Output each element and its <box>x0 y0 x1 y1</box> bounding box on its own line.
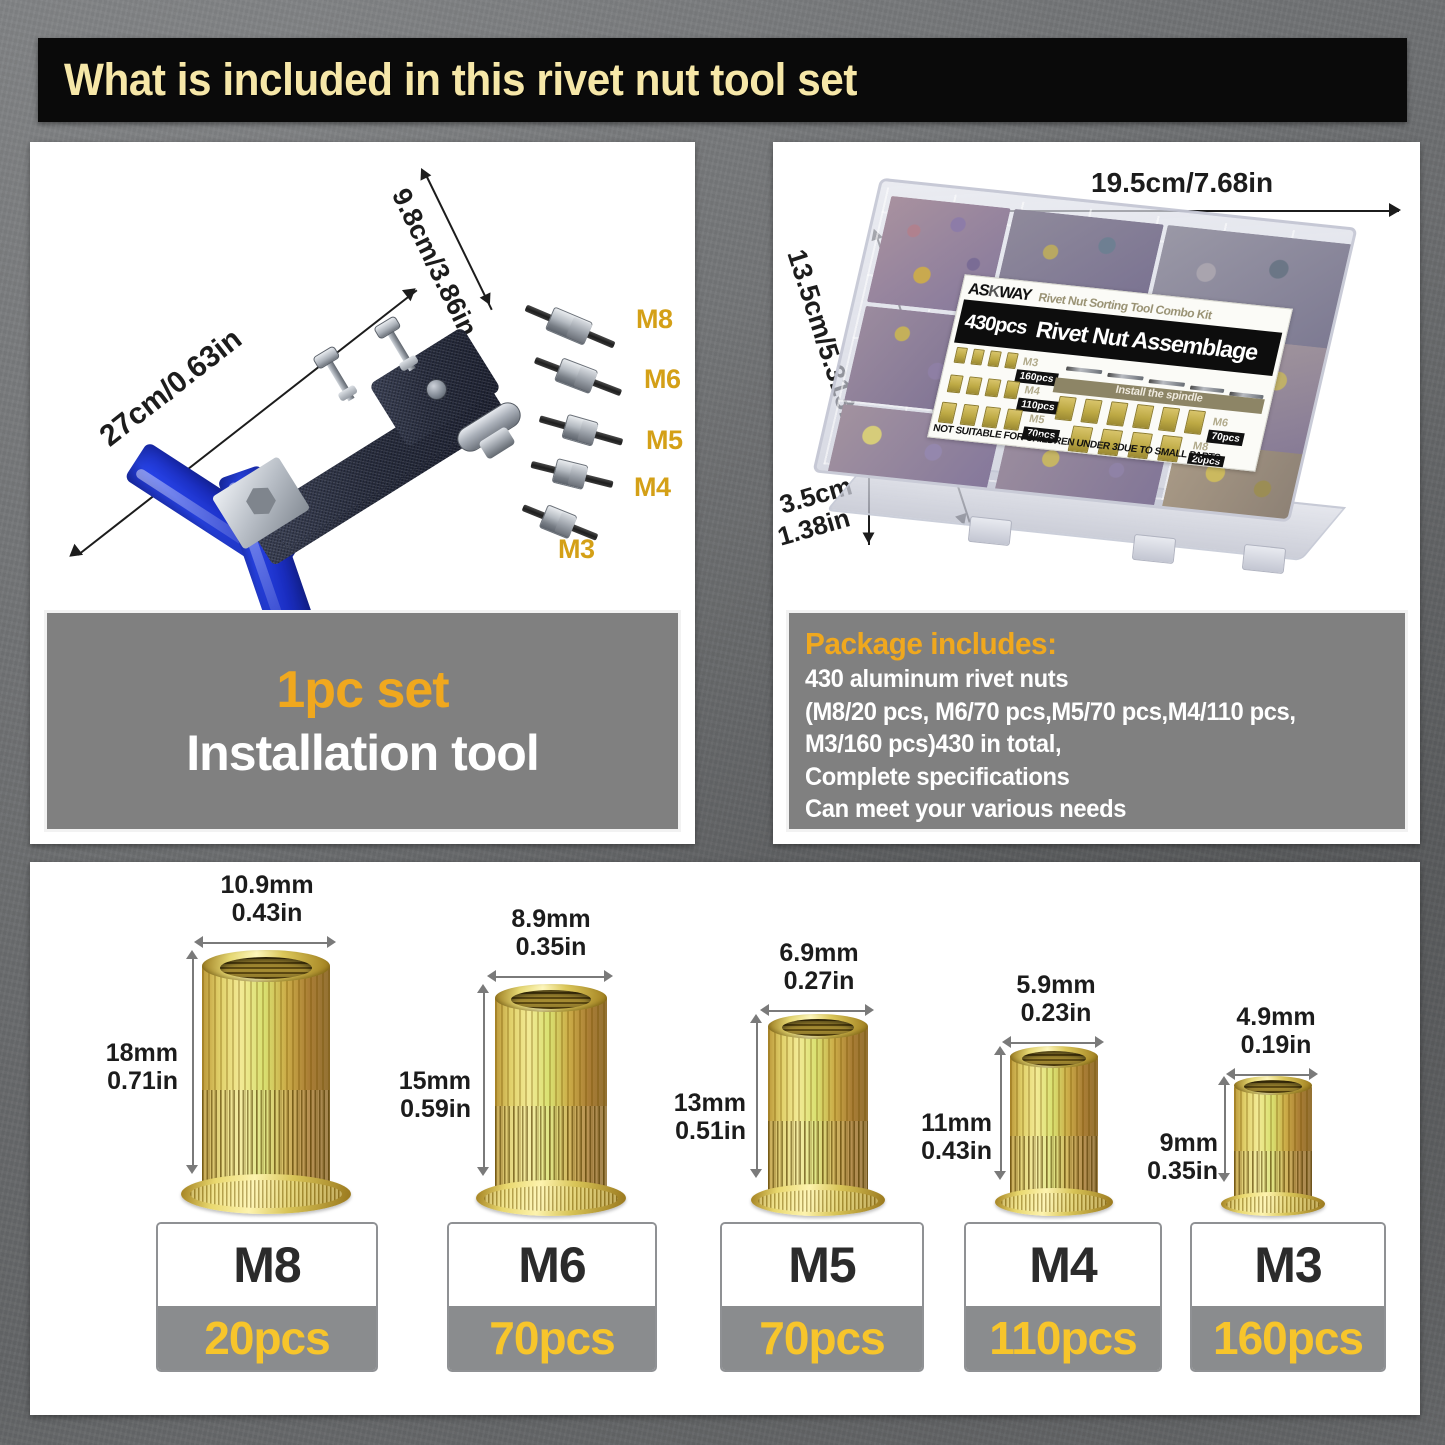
label-nut-m6-2 <box>1080 399 1102 424</box>
m4-dia-rule <box>1010 1042 1098 1044</box>
tool-caption-line1: 1pc set <box>276 660 448 720</box>
label-nut-m5-3 <box>981 406 1001 428</box>
package-title: Package includes: <box>805 626 1381 662</box>
label-pcs-m6: 70pcs <box>1206 430 1245 447</box>
m3-len-arrow-t <box>1218 1076 1230 1085</box>
case-illustration: 19.5cm/7.68in 13.5cm/5.313in 3.5cm 1.38i… <box>773 142 1420 610</box>
m8-len-in: 0.71in <box>68 1068 178 1095</box>
m3-len-in: 0.35in <box>1108 1158 1218 1185</box>
mandrel-label-m3: M3 <box>558 534 595 565</box>
size-comparison-panel: 10.9mm 0.43in 18mm 0.71in M8 20pcs 8.9mm… <box>30 862 1420 1415</box>
m5-len-in: 0.51in <box>634 1118 746 1145</box>
tool-caption-box: 1pc set Installation tool <box>44 610 681 832</box>
spec-pcs-m8: 20pcs <box>204 1311 329 1365</box>
m6-dia-arrow-l <box>487 970 496 982</box>
m5-dia-rule <box>768 1010 868 1012</box>
m4-len-rule <box>1000 1054 1002 1174</box>
spec-label-m5: M5 70pcs <box>720 1222 924 1372</box>
label-nut-m5-1 <box>938 402 958 424</box>
m6-dia-arrow-r <box>604 970 613 982</box>
spec-pcs-m6: 70pcs <box>489 1311 614 1365</box>
spec-size-m4: M4 <box>1029 1236 1096 1294</box>
label-nut-m6-3 <box>1106 401 1128 426</box>
label-size-m6: M6 <box>1211 416 1229 429</box>
label-nut-m5-4 <box>1003 409 1023 431</box>
label-size-m3: M3 <box>1022 356 1040 369</box>
m8-len-arrow-b <box>186 1165 198 1174</box>
m6-len-mm: 15mm <box>359 1068 471 1095</box>
package-line-4: Complete specifications <box>805 761 1375 794</box>
spec-size-m3: M3 <box>1254 1236 1321 1294</box>
label-nut-m3-2 <box>970 349 985 366</box>
mandrel-label-m6: M6 <box>644 364 681 395</box>
mandrel-label-m8: M8 <box>636 304 673 335</box>
label-total-count: 430pcs <box>962 310 1029 339</box>
label-spindle-icon-3 <box>1148 379 1185 387</box>
m6-len-rule <box>483 992 485 1170</box>
label-size-m4: M4 <box>1023 384 1041 397</box>
case-width-label: 19.5cm/7.68in <box>1091 168 1273 198</box>
rivet-nut-m4 <box>1010 1046 1098 1208</box>
m3-dia-mm: 4.9mm <box>1218 1004 1334 1031</box>
label-nut-m4-4 <box>1003 380 1020 399</box>
tool-width-arrow-end <box>480 292 496 307</box>
spec-size-m8: M8 <box>233 1236 300 1294</box>
tool-illustration: 27cm/0.63in 9.8cm/3.86in M8 <box>30 142 695 610</box>
spec-pcs-m4: 110pcs <box>989 1311 1136 1365</box>
label-nut-m5-2 <box>960 404 980 426</box>
tool-pivot-screw <box>426 379 447 400</box>
spec-size-m5: M5 <box>788 1236 855 1294</box>
case-latch-right <box>1242 544 1286 574</box>
m6-dia-rule <box>495 976 607 978</box>
page-title: What is included in this rivet nut tool … <box>64 54 857 106</box>
mandrel-m6 <box>531 348 626 404</box>
m8-len-arrow-t <box>186 950 198 959</box>
label-spindle-icon-2 <box>1107 373 1144 381</box>
mandrel-m5 <box>536 407 626 455</box>
m5-len-arrow-b <box>750 1169 762 1178</box>
rivet-nut-m6 <box>495 984 607 1204</box>
label-nut-m6-5 <box>1158 407 1180 432</box>
spec-pcs-m3: 160pcs <box>1213 1311 1363 1365</box>
m5-len-rule <box>756 1022 758 1172</box>
label-spindle-icon-1 <box>1066 366 1103 374</box>
spec-label-m8: M8 20pcs <box>156 1222 378 1372</box>
rivet-nut-m3 <box>1234 1076 1312 1210</box>
case-latch-left <box>968 516 1012 546</box>
package-line-1: 430 aluminum rivet nuts <box>805 663 1375 696</box>
m4-dia-in: 0.23in <box>994 1000 1118 1027</box>
m5-dia-mm: 6.9mm <box>752 940 886 967</box>
m5-dia-in: 0.27in <box>752 968 886 995</box>
header-banner: What is included in this rivet nut tool … <box>38 38 1407 122</box>
case-width-arrow-end <box>1389 203 1401 217</box>
label-nut-m4-2 <box>966 376 983 395</box>
m6-len-arrow-b <box>477 1167 489 1176</box>
m4-len-in: 0.43in <box>880 1138 992 1165</box>
label-nut-m4-1 <box>947 374 964 393</box>
m8-dia-arrow-r <box>327 936 336 948</box>
label-nut-m3-1 <box>953 347 968 364</box>
spec-pcs-m5: 70pcs <box>759 1311 884 1365</box>
m4-len-arrow-b <box>994 1171 1006 1180</box>
package-line-5: Can meet your various needs <box>805 793 1375 826</box>
m5-len-mm: 13mm <box>634 1090 746 1117</box>
package-line-3: M3/160 pcs)430 in total, <box>805 728 1375 761</box>
spec-label-m3: M3 160pcs <box>1190 1222 1386 1372</box>
tool-caption-line2: Installation tool <box>186 724 538 782</box>
m8-dia-mm: 10.9mm <box>192 872 342 899</box>
rivet-nut-m8 <box>202 950 330 1202</box>
rivet-nut-m5 <box>768 1014 868 1206</box>
m6-dia-mm: 8.9mm <box>481 906 621 933</box>
m4-dia-mm: 5.9mm <box>994 972 1118 999</box>
label-nut-m3-4 <box>1004 352 1019 369</box>
m3-len-mm: 9mm <box>1108 1130 1218 1157</box>
m8-len-mm: 18mm <box>68 1040 178 1067</box>
mandrel-m8 <box>521 296 619 357</box>
spec-size-m6: M6 <box>518 1236 585 1294</box>
mandrel-label-m5: M5 <box>646 425 683 456</box>
case-latch-mid <box>1132 534 1176 564</box>
label-nut-m6-4 <box>1132 404 1154 429</box>
label-pcs-m3: 160pcs <box>1014 369 1059 386</box>
label-nut-m3-3 <box>987 350 1002 367</box>
m8-dia-rule <box>202 942 330 944</box>
mandrel-m4 <box>528 452 616 497</box>
m8-dia-in: 0.43in <box>192 900 342 927</box>
package-line-2: (M8/20 pcs, M6/70 pcs,M5/70 pcs,M4/110 p… <box>805 696 1375 729</box>
m4-len-arrow-t <box>994 1046 1006 1055</box>
spec-label-m4: M4 110pcs <box>964 1222 1162 1372</box>
m3-len-rule <box>1224 1084 1226 1176</box>
case-product-label: ASKWAY Rivet Nut Sorting Tool Combo Kit … <box>927 274 1293 471</box>
m3-len-arrow-b <box>1218 1173 1230 1182</box>
package-caption-box: Package includes: 430 aluminum rivet nut… <box>786 610 1408 832</box>
m6-dia-in: 0.35in <box>481 934 621 961</box>
label-nut-m6-6 <box>1184 409 1206 434</box>
m3-dia-in: 0.19in <box>1218 1032 1334 1059</box>
m6-len-in: 0.59in <box>359 1096 471 1123</box>
label-nut-m4-3 <box>984 378 1001 397</box>
m8-dia-arrow-l <box>194 936 203 948</box>
tool-length-label: 27cm/0.63in <box>94 323 248 453</box>
case-depth-arrow-end <box>863 533 875 544</box>
label-size-m5: M5 <box>1028 413 1046 426</box>
m8-len-rule <box>192 958 194 1168</box>
mandrel-label-m4: M4 <box>634 472 671 503</box>
label-nut-m6-1 <box>1054 396 1076 421</box>
spec-label-m6: M6 70pcs <box>447 1222 657 1372</box>
m5-len-arrow-t <box>750 1014 762 1023</box>
m4-len-mm: 11mm <box>880 1110 992 1137</box>
m6-len-arrow-t <box>477 984 489 993</box>
label-brand-b: WAY <box>997 284 1033 304</box>
tool-length-arrow-start <box>65 544 83 562</box>
